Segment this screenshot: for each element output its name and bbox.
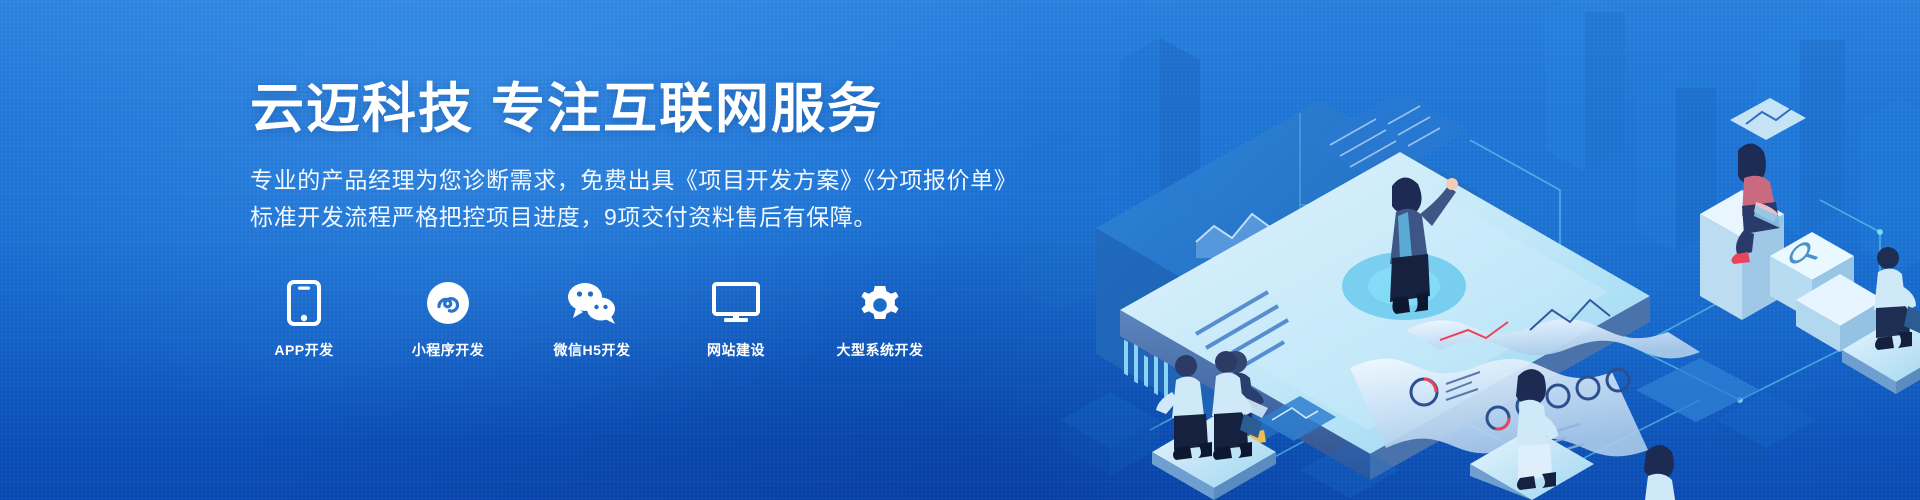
service-label-website: 网站建设 [707, 340, 765, 360]
gear-icon [858, 278, 902, 328]
service-label-app: APP开发 [274, 340, 333, 360]
banner-subtitle: 专业的产品经理为您诊断需求，免费出具《项目开发方案》《分项报价单》 标准开发流程… [250, 162, 1130, 237]
service-item-wechat-h5[interactable]: 微信H5开发 [538, 278, 646, 360]
service-item-large-system[interactable]: 大型系统开发 [826, 278, 934, 360]
isometric-illustration [1000, 0, 1920, 500]
service-label-wechat-h5: 微信H5开发 [554, 340, 631, 360]
mini-program-icon [426, 278, 470, 328]
mobile-phone-icon [287, 278, 321, 328]
wechat-icon [567, 278, 617, 328]
front-right-figure [1644, 445, 1676, 500]
monitor-icon [712, 278, 760, 328]
service-list: APP开发 小程序开发 [250, 278, 1130, 360]
banner-subtitle-line1: 专业的产品经理为您诊断需求，免费出具《项目开发方案》《分项报价单》 [250, 167, 1017, 193]
service-label-miniprogram: 小程序开发 [412, 340, 485, 360]
service-item-miniprogram[interactable]: 小程序开发 [394, 278, 502, 360]
banner-content: 云迈科技 专注互联网服务 专业的产品经理为您诊断需求，免费出具《项目开发方案》《… [250, 78, 1130, 360]
service-label-large-system: 大型系统开发 [837, 340, 924, 360]
banner-headline: 云迈科技 专注互联网服务 [250, 78, 1130, 142]
service-item-app[interactable]: APP开发 [250, 278, 358, 360]
service-item-website[interactable]: 网站建设 [682, 278, 790, 360]
banner-subtitle-line2: 标准开发流程严格把控项目进度，9项交付资料售后有保障。 [250, 199, 1130, 236]
hero-banner: 云迈科技 专注互联网服务 专业的产品经理为您诊断需求，免费出具《项目开发方案》《… [0, 0, 1920, 500]
